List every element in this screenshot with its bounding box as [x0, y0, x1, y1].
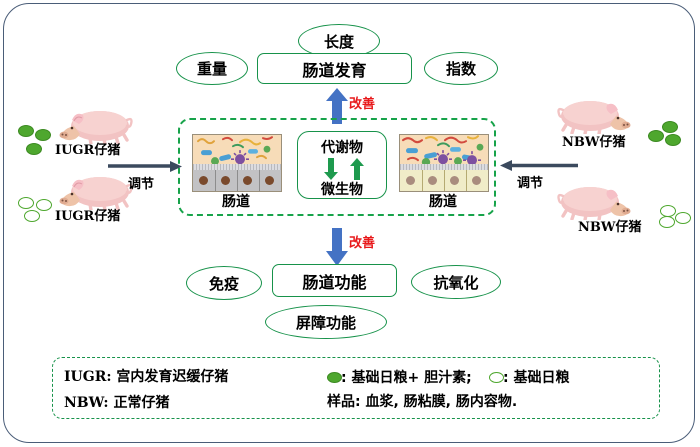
ellipse-weight: 重量 [176, 52, 248, 85]
gut-illustration-right [399, 134, 489, 192]
microbiota-right-icon [400, 135, 488, 166]
microbiota-label: 微生物 [298, 179, 386, 199]
intestinal-function-box: 肠道功能 [272, 264, 397, 297]
regulate-left-label: 调节 [128, 173, 154, 192]
ellipse-antioxidation-label: 抗氧化 [433, 272, 478, 293]
marker-filled-nbw-1 [662, 121, 678, 133]
legend-samples-text: 样品: 血浆, 肠粘膜, 肠内容物. [327, 391, 517, 411]
epithelium-left [193, 170, 281, 191]
pig-nbw-open-icon [556, 178, 642, 220]
regulate-right-arrow-icon [500, 160, 578, 172]
pig-iugr-filled-icon [48, 102, 134, 144]
pig-label-nbw-filled: NBW仔猪 [562, 131, 625, 150]
gut-illustration-left [192, 134, 282, 192]
marker-filled-nbw-3 [665, 134, 681, 146]
improve-up-label: 改善 [349, 93, 375, 112]
intestinal-development-box: 肠道发育 [257, 53, 412, 84]
epithelium-right [400, 170, 488, 191]
regulate-right-label: 调节 [517, 172, 543, 191]
ellipse-index: 指数 [424, 52, 498, 85]
ellipse-weight-label: 重量 [197, 58, 227, 79]
marker-open-nbw-3 [675, 212, 691, 224]
legend-nbw-text: NBW: 正常仔猪 [64, 392, 169, 412]
legend-diet-open-text: : 基础日粮 [503, 367, 569, 387]
improve-down-label: 改善 [349, 232, 375, 251]
ellipse-immunity-label: 免疫 [209, 273, 239, 294]
figure-canvas: 长度 重量 肠道发育 指数 改善 [0, 0, 700, 447]
marker-filled-nbw-2 [648, 130, 664, 142]
microbiota-left-icon [193, 135, 281, 166]
pig-label-iugr-open: IUGR仔猪 [55, 205, 120, 224]
ellipse-barrier-function: 屏障功能 [265, 305, 387, 339]
legend-marker-open [489, 372, 504, 383]
marker-open-nbw-2 [659, 216, 675, 228]
ellipse-index-label: 指数 [446, 58, 476, 79]
legend-marker-filled [327, 372, 342, 383]
metabolite-microbiota-arrows-icon [316, 158, 372, 180]
metabolite-microbiota-box: 代谢物 微生物 [297, 131, 387, 199]
legend-iugr-text: IUGR: 宫内发育迟缓仔猪 [64, 366, 228, 386]
ellipse-barrier-label: 屏障功能 [296, 312, 356, 333]
intestinal-development-label: 肠道发育 [302, 57, 366, 81]
pig-label-iugr-filled: IUGR仔猪 [55, 139, 120, 158]
metabolite-label: 代谢物 [298, 137, 386, 157]
intestinal-function-label: 肠道功能 [302, 269, 366, 293]
marker-open-iugr-2 [36, 199, 52, 211]
marker-open-iugr-1 [18, 197, 34, 209]
pig-label-nbw-open: NBW仔猪 [578, 216, 641, 235]
legend-diet-filled-text: : 基础日粮+ 胆汁素; [341, 367, 472, 387]
marker-filled-iugr-3 [26, 143, 42, 155]
gut-label-right: 肠道 [399, 191, 487, 211]
pig-nbw-filled-icon [556, 92, 642, 134]
ellipse-antioxidation: 抗氧化 [411, 265, 501, 299]
gut-label-left: 肠道 [192, 191, 280, 211]
ellipse-immunity: 免疫 [186, 266, 262, 300]
ellipse-length-label: 长度 [324, 31, 354, 52]
marker-filled-iugr-1 [18, 125, 34, 137]
marker-open-iugr-3 [24, 210, 40, 222]
regulate-left-arrow-icon [108, 161, 182, 173]
pig-iugr-open-icon [48, 168, 134, 210]
improve-down-arrow-icon [325, 228, 349, 266]
marker-filled-iugr-2 [35, 129, 51, 141]
